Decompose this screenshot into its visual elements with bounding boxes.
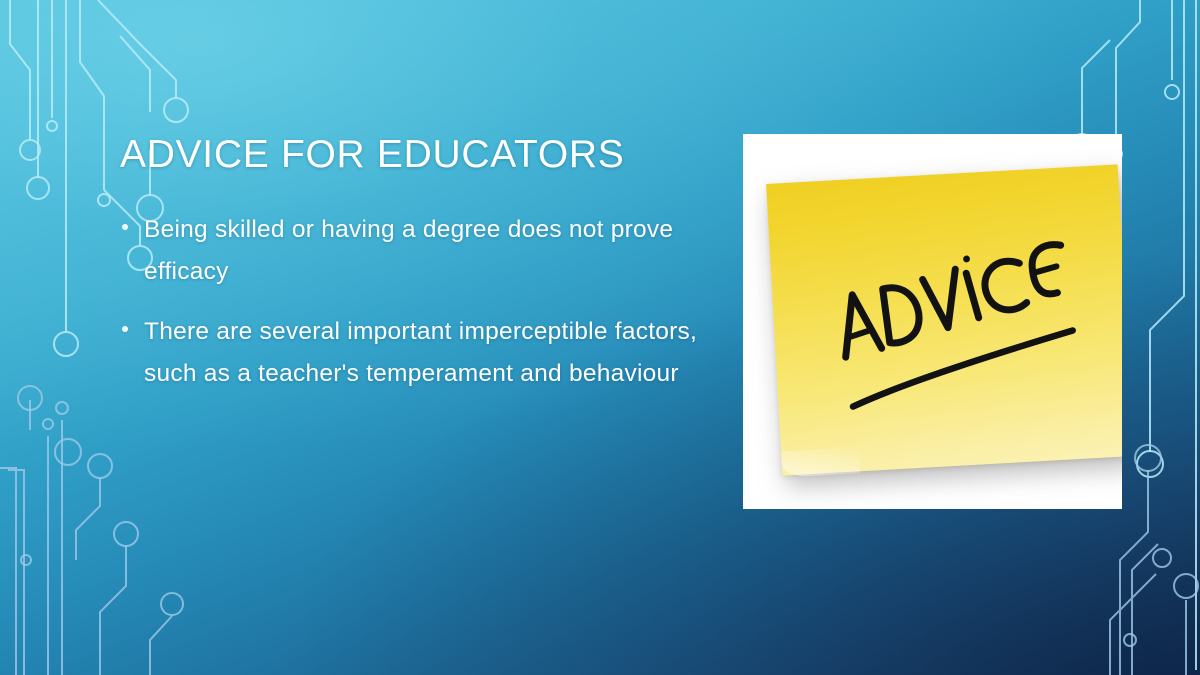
bullet-dot-icon [122,224,128,230]
bullet-dot-icon [122,326,128,332]
bullet-list: Being skilled or having a degree does no… [118,209,718,413]
bullet-text: Being skilled or having a degree does no… [144,216,673,285]
bullet-item: There are several important imperceptibl… [118,311,718,395]
slide-canvas: ADVICE FOR EDUCATORS Being skilled or ha… [0,0,1200,675]
handwritten-advice-text [824,237,1096,421]
yellow-sticky-note [766,164,1122,475]
bullet-text: There are several important imperceptibl… [144,318,697,387]
sticky-note-image [743,134,1122,509]
bullet-item: Being skilled or having a degree does no… [118,209,718,293]
slide-title: ADVICE FOR EDUCATORS [120,134,740,177]
